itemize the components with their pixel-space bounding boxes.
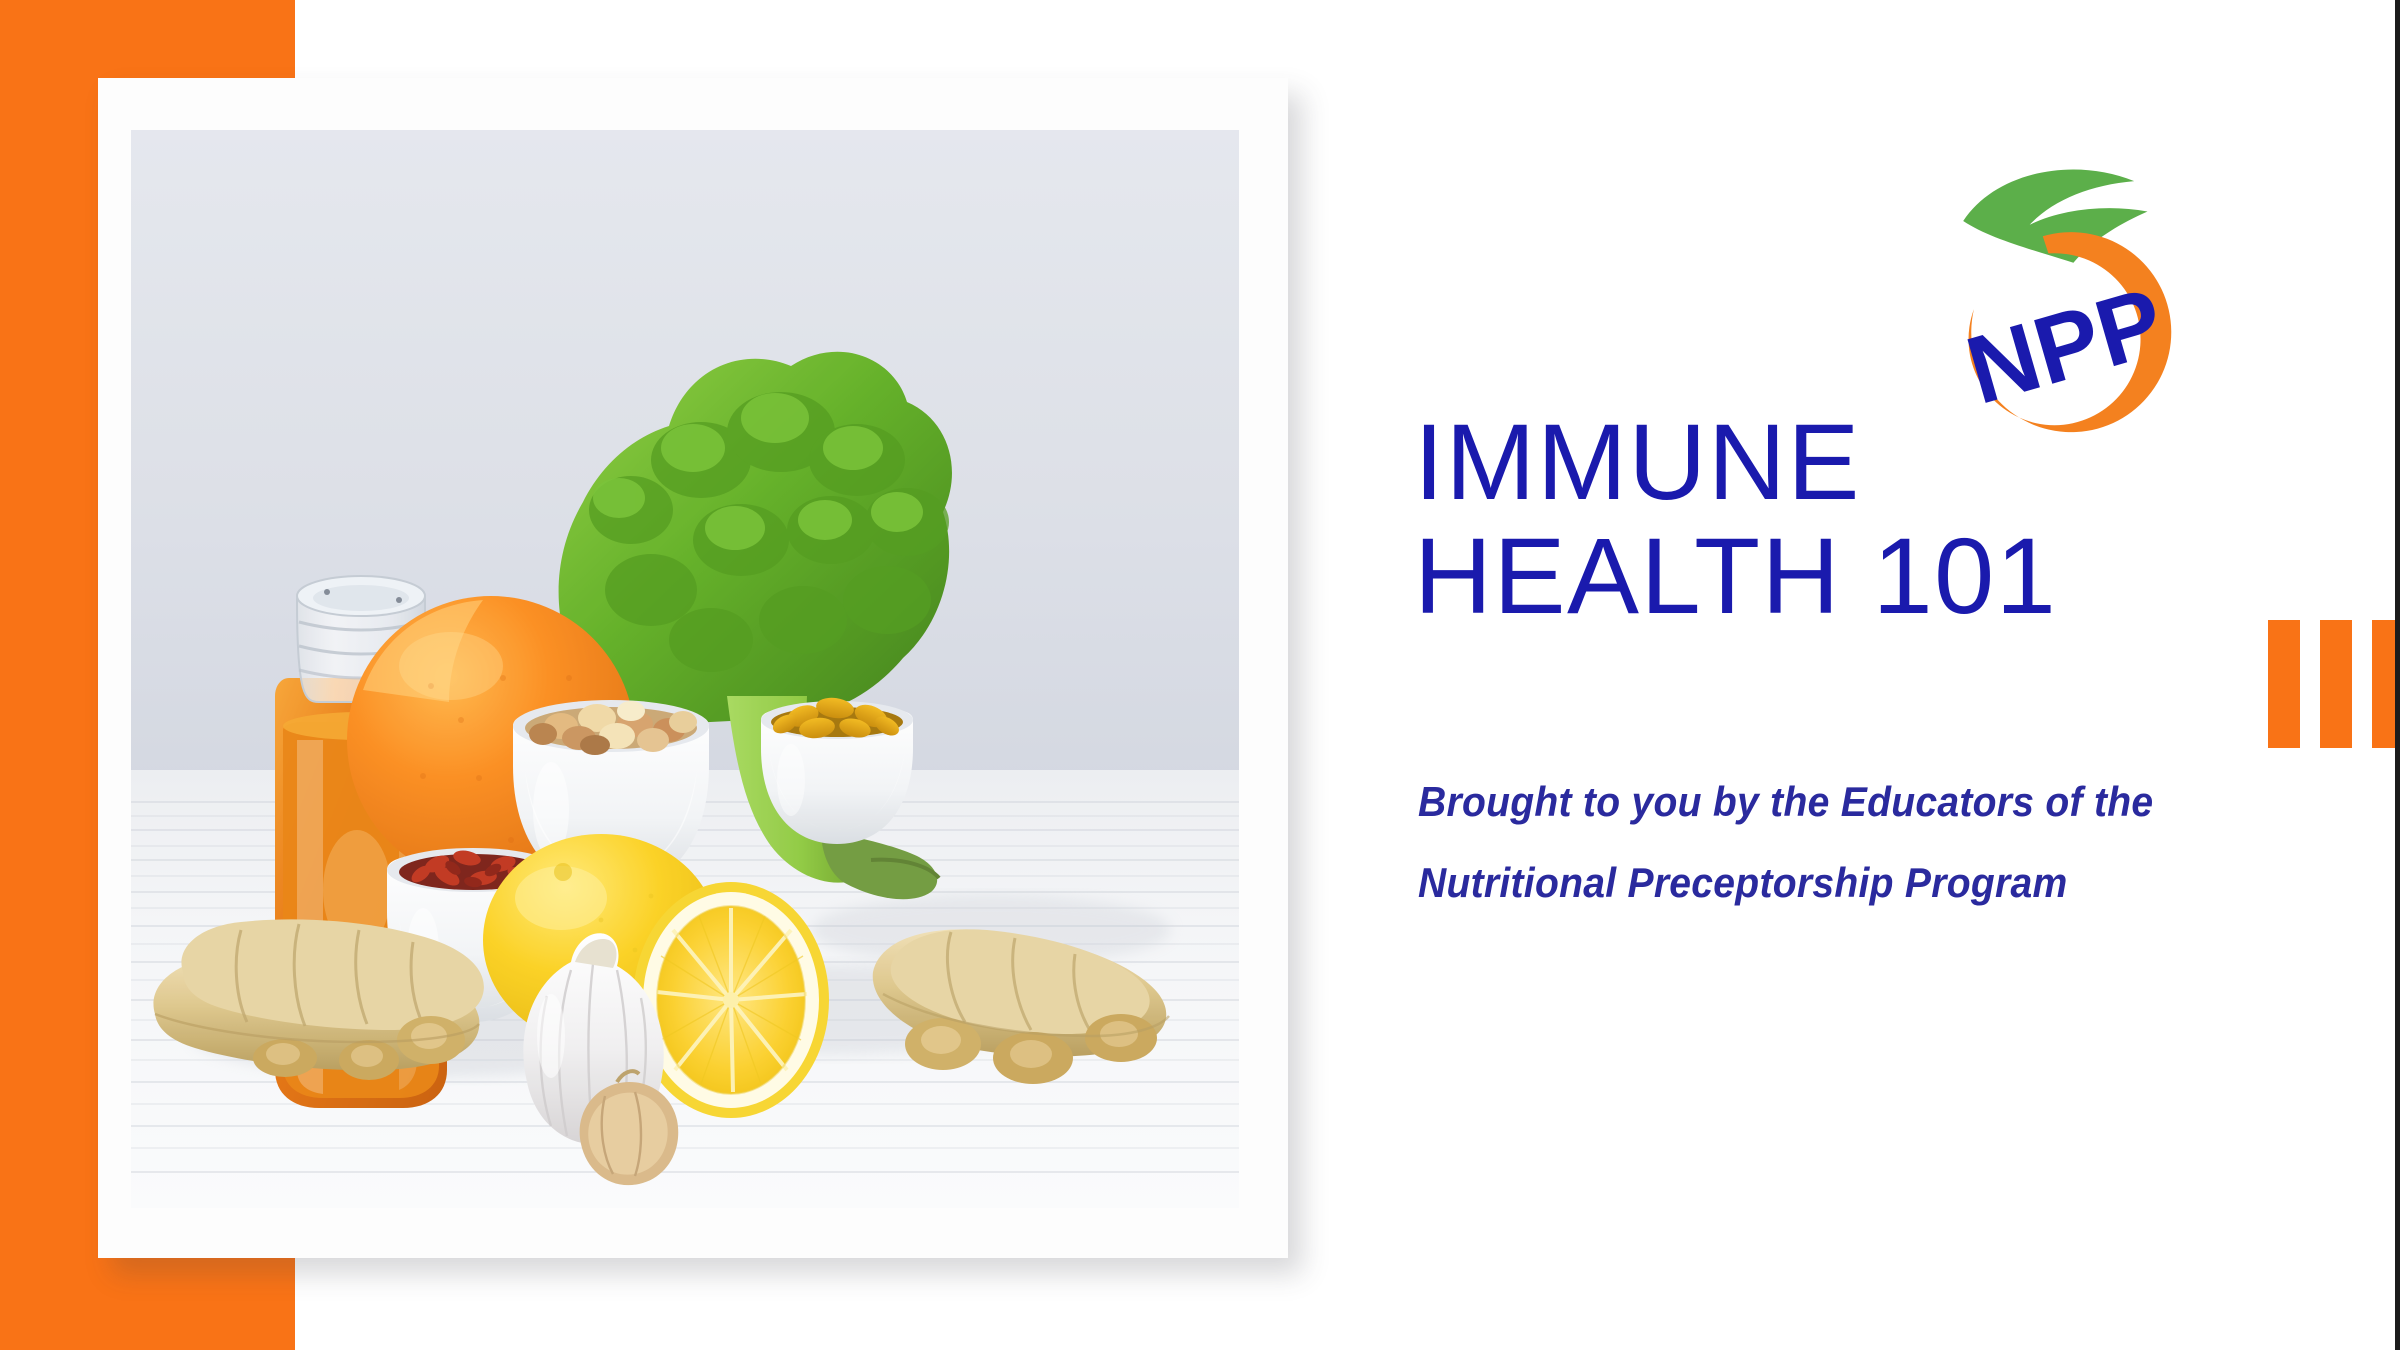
presentation-slide: IMMUNE HEALTH 101 Brought to you by the … <box>0 0 2400 1350</box>
orange-accent-bars <box>2268 620 2400 748</box>
immune-foods-photo <box>131 130 1239 1208</box>
subtitle-line-2: Nutritional Preceptorship Program <box>1418 856 2088 911</box>
accent-bar-2 <box>2320 620 2352 748</box>
text-column: IMMUNE HEALTH 101 Brought to you by the … <box>1400 0 2400 1350</box>
accent-bar-3 <box>2372 620 2400 748</box>
npp-logo: NPP <box>1920 150 2220 450</box>
photo-illustration <box>131 130 1239 1208</box>
title-line-2: HEALTH 101 <box>1414 519 2234 633</box>
accent-bar-1 <box>2268 620 2300 748</box>
subtitle-line-1: Brought to you by the Educators of the <box>1418 775 2088 830</box>
subtitle: Brought to you by the Educators of the N… <box>1418 775 2138 910</box>
orange-top-bar <box>0 0 295 78</box>
npp-logo-mark: NPP <box>1920 150 2220 450</box>
